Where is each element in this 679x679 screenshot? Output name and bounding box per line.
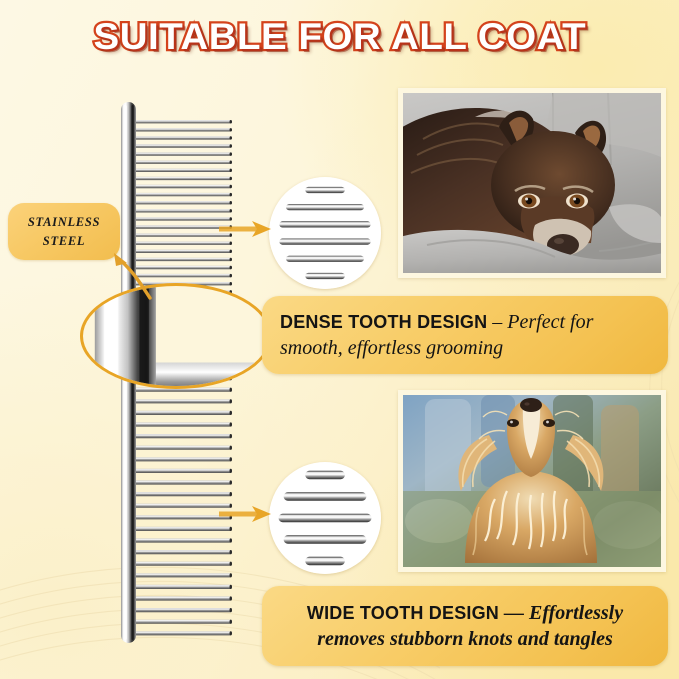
stainless-steel-badge: STAINLESS STEEL	[8, 203, 120, 260]
arrow-right-icon	[219, 503, 275, 525]
wide-teeth-magnifier	[269, 462, 381, 574]
badge-line-2: STEEL	[43, 232, 85, 251]
caption-wide-body: removes stubborn knots and tangles	[317, 626, 613, 652]
caption-wide-tooth: WIDE TOOTH DESIGN — Effortlessly removes…	[262, 586, 668, 666]
photo-dog-bottom	[398, 390, 666, 572]
arrow-up-right-icon	[108, 252, 154, 300]
page-title: SUITABLE FOR ALL COAT	[93, 18, 586, 55]
photo-dog-top	[398, 88, 666, 278]
caption-wide-emphasis: Effortlessly	[529, 602, 623, 624]
caption-dense-heading: DENSE TOOTH DESIGN	[280, 312, 487, 332]
badge-line-1: STAINLESS	[28, 213, 100, 232]
dense-teeth-magnifier	[269, 177, 381, 289]
caption-dense-emphasis: Perfect for	[507, 311, 593, 333]
caption-wide-line-1: WIDE TOOTH DESIGN — Effortlessly	[307, 600, 623, 626]
poster-title-container: SUITABLE FOR ALL COAT	[0, 18, 679, 55]
caption-dense-line-1: DENSE TOOTH DESIGN – Perfect for	[280, 309, 593, 335]
caption-wide-heading: WIDE TOOTH DESIGN	[307, 603, 499, 623]
caption-dense-body: smooth, effortless grooming	[280, 335, 503, 361]
caption-dense-dash: –	[487, 311, 507, 333]
caption-dense-tooth: DENSE TOOTH DESIGN – Perfect for smooth,…	[262, 296, 668, 374]
caption-wide-dash: —	[499, 602, 529, 624]
arrow-right-icon	[219, 218, 275, 240]
infographic-poster: SUITABLE FOR ALL COAT	[0, 0, 679, 679]
